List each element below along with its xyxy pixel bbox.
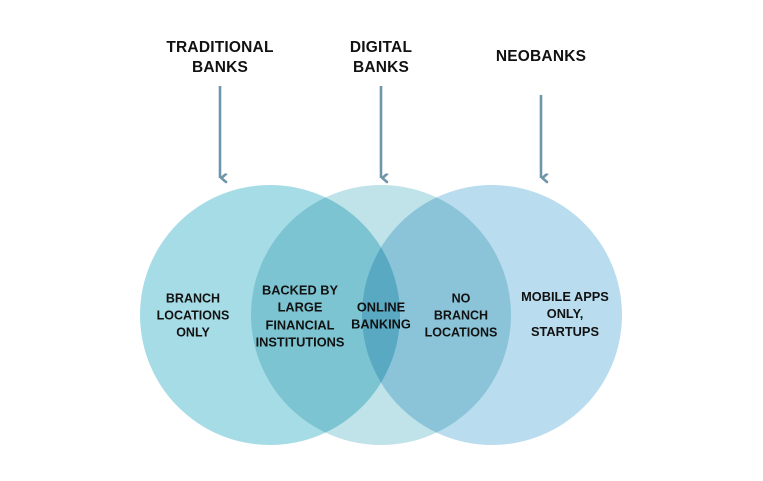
- arrow-group: [220, 86, 541, 178]
- venn-diagram: TRADITIONAL BANKS DIGITAL BANKS NEOBANKS…: [0, 0, 763, 481]
- category-heading-neobanks: NEOBANKS: [431, 47, 651, 67]
- venn-circle-neobanks: [362, 185, 622, 445]
- venn-circles: [140, 185, 622, 445]
